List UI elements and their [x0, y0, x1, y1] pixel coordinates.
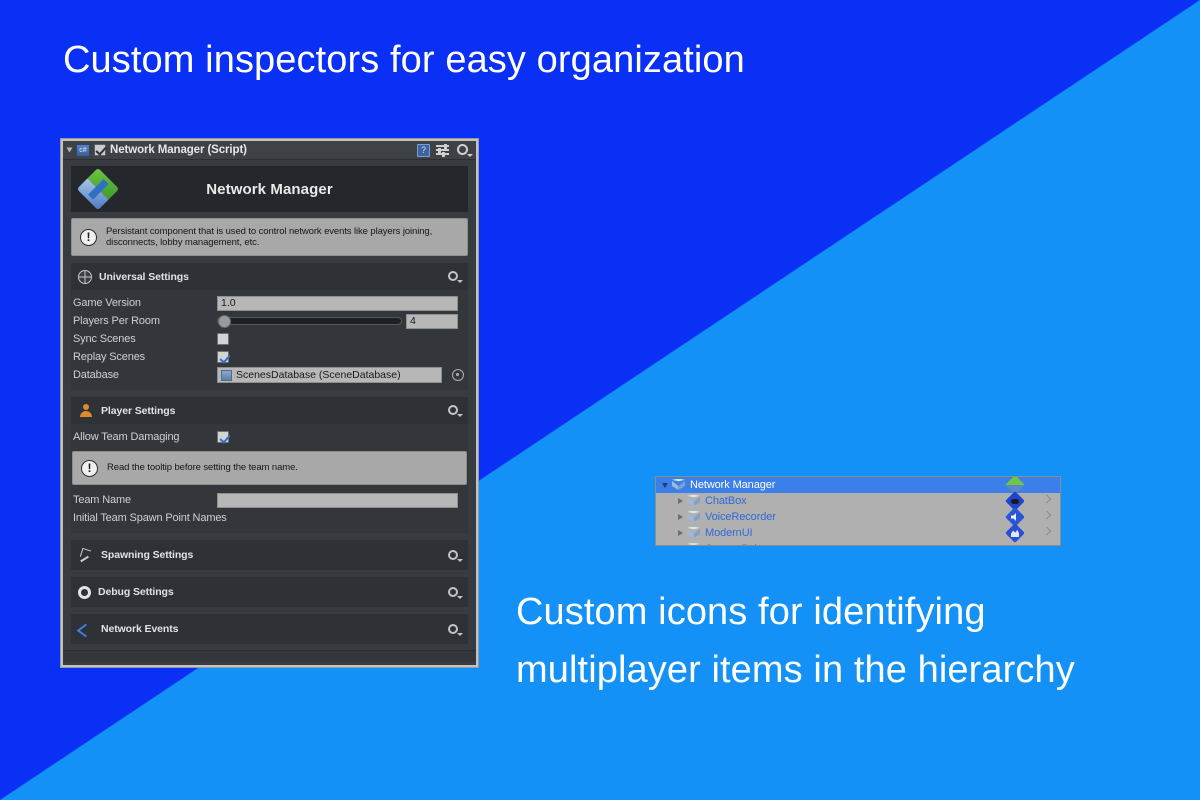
- csharp-script-icon: c#: [76, 144, 90, 157]
- chevron-right-icon[interactable]: [1043, 495, 1051, 503]
- network-events-icon: [78, 621, 94, 637]
- object-picker-icon[interactable]: [452, 369, 464, 381]
- component-banner: Network Manager: [71, 166, 468, 212]
- property-row-players-per-room: Players Per Room 4: [71, 312, 468, 330]
- label-players-per-room: Players Per Room: [73, 315, 217, 327]
- info-icon: [80, 229, 97, 246]
- component-foldout-icon[interactable]: [67, 148, 73, 153]
- person-icon: [78, 403, 94, 419]
- property-row-replay-scenes: Replay Scenes: [71, 348, 468, 366]
- section-title-debug-settings: Debug Settings: [98, 586, 447, 598]
- section-gear-icon-player-settings[interactable]: [447, 404, 460, 417]
- object-field-database[interactable]: ScenesDatabase (SceneDatabase): [217, 367, 442, 383]
- inspector-window: c# Network Manager (Script) ?: [60, 138, 479, 668]
- player-settings-help-text: Read the tooltip before setting the team…: [107, 462, 298, 474]
- info-icon: [81, 460, 98, 477]
- section-gear-icon-spawning-settings[interactable]: [447, 549, 460, 562]
- section-header-universal-settings[interactable]: Universal Settings: [71, 263, 468, 290]
- expand-arrow-icon[interactable]: [678, 498, 683, 504]
- label-replay-scenes: Replay Scenes: [73, 351, 217, 363]
- chat-badge-icon: [1008, 494, 1022, 508]
- section-body-universal-settings: Game Version 1.0 Players Per Room 4: [71, 290, 468, 390]
- hierarchy-panel: Network Manager ChatBox VoiceRecorder: [655, 476, 1061, 546]
- promo-banner: Custom inspectors for easy organization …: [0, 0, 1200, 800]
- section-header-player-settings[interactable]: Player Settings: [71, 397, 468, 424]
- expand-arrow-icon[interactable]: [678, 530, 683, 536]
- preset-icon[interactable]: [436, 144, 450, 156]
- property-row-database: Database ScenesDatabase (SceneDatabase): [71, 366, 468, 384]
- section-header-debug-settings[interactable]: Debug Settings: [71, 577, 468, 607]
- expand-arrow-icon[interactable]: [678, 514, 683, 520]
- slider-players-per-room[interactable]: [217, 317, 402, 325]
- label-game-version: Game Version: [73, 297, 217, 309]
- hierarchy-row-spawn-point[interactable]: Spawn Point: [656, 541, 1060, 546]
- label-team-name: Team Name: [73, 494, 217, 506]
- component-titlebar: c# Network Manager (Script) ?: [63, 141, 476, 160]
- slider-handle[interactable]: [218, 315, 231, 328]
- hierarchy-label: Network Manager: [690, 479, 775, 491]
- hierarchy-row-modernui[interactable]: ModernUI: [656, 525, 1060, 541]
- section-title-spawning-settings: Spawning Settings: [101, 549, 447, 561]
- spawn-axis-icon: [78, 547, 94, 563]
- component-help-box: Persistant component that is used to con…: [71, 218, 468, 256]
- hierarchy-row-voicerecorder[interactable]: VoiceRecorder: [656, 509, 1060, 525]
- gameobject-cube-icon: [687, 495, 700, 508]
- input-players-per-room[interactable]: 4: [406, 314, 458, 329]
- scriptable-object-icon: [221, 370, 232, 381]
- input-team-name[interactable]: [217, 493, 458, 508]
- section-gear-icon-network-events[interactable]: [447, 623, 460, 636]
- checkbox-replay-scenes[interactable]: [217, 351, 229, 363]
- network-manager-badge-icon: [1008, 478, 1022, 492]
- globe-icon: [78, 270, 92, 284]
- checkbox-sync-scenes[interactable]: [217, 333, 229, 345]
- hierarchy-label: ModernUI: [705, 527, 753, 539]
- component-title: Network Manager (Script): [110, 144, 413, 156]
- section-title-network-events: Network Events: [101, 623, 447, 635]
- label-database: Database: [73, 369, 217, 381]
- hierarchy-label: Spawn Point: [705, 543, 766, 546]
- gameobject-cube-icon: [687, 527, 700, 540]
- banner-title: Network Manager: [71, 181, 468, 198]
- gear-dropdown-icon[interactable]: [456, 143, 470, 157]
- section-gear-icon-universal-settings[interactable]: [447, 270, 460, 283]
- help-icon[interactable]: ?: [417, 144, 430, 157]
- voice-badge-icon: [1008, 510, 1022, 524]
- hierarchy-label: ChatBox: [705, 495, 747, 507]
- gameobject-cube-icon: [672, 479, 685, 492]
- input-game-version[interactable]: 1.0: [217, 296, 458, 311]
- expand-arrow-icon[interactable]: [662, 483, 668, 488]
- property-row-team-name: Team Name: [71, 491, 468, 509]
- chevron-right-icon[interactable]: [1043, 511, 1051, 519]
- section-body-player-settings: Allow Team Damaging Read the tooltip bef…: [71, 424, 468, 533]
- section-gear-icon-debug-settings[interactable]: [447, 586, 460, 599]
- player-settings-help-box: Read the tooltip before setting the team…: [72, 451, 467, 485]
- debug-gear-icon: [78, 586, 91, 599]
- component-enabled-checkbox[interactable]: [94, 144, 106, 156]
- headline-bottom: Custom icons for identifying multiplayer…: [516, 583, 1075, 699]
- label-sync-scenes: Sync Scenes: [73, 333, 217, 345]
- hierarchy-row-chatbox[interactable]: ChatBox: [656, 493, 1060, 509]
- label-initial-team-spawn-point-names: Initial Team Spawn Point Names: [73, 512, 227, 524]
- hierarchy-row-network-manager[interactable]: Network Manager: [656, 477, 1060, 493]
- property-row-game-version: Game Version 1.0: [71, 294, 468, 312]
- section-title-universal-settings: Universal Settings: [99, 271, 447, 283]
- gameobject-cube-icon: [687, 511, 700, 524]
- modern-ui-badge-icon: [1008, 526, 1022, 540]
- headline-top: Custom inspectors for easy organization: [63, 36, 745, 84]
- checkbox-allow-team-damaging[interactable]: [217, 431, 229, 443]
- chevron-right-icon[interactable]: [1043, 527, 1051, 535]
- network-manager-logo-icon: [77, 168, 119, 210]
- inspector-footer: [63, 650, 476, 662]
- section-header-spawning-settings[interactable]: Spawning Settings: [71, 540, 468, 570]
- object-field-database-value: ScenesDatabase (SceneDatabase): [236, 369, 401, 381]
- property-row-allow-team-damaging: Allow Team Damaging: [71, 428, 468, 446]
- property-row-initial-team-spawn-point-names: Initial Team Spawn Point Names: [71, 509, 468, 527]
- hierarchy-label: VoiceRecorder: [705, 511, 776, 523]
- section-title-player-settings: Player Settings: [101, 405, 447, 417]
- help-box-text: Persistant component that is used to con…: [106, 226, 459, 249]
- gameobject-cube-icon: [687, 543, 700, 547]
- section-header-network-events[interactable]: Network Events: [71, 614, 468, 644]
- label-allow-team-damaging: Allow Team Damaging: [73, 431, 217, 443]
- property-row-sync-scenes: Sync Scenes: [71, 330, 468, 348]
